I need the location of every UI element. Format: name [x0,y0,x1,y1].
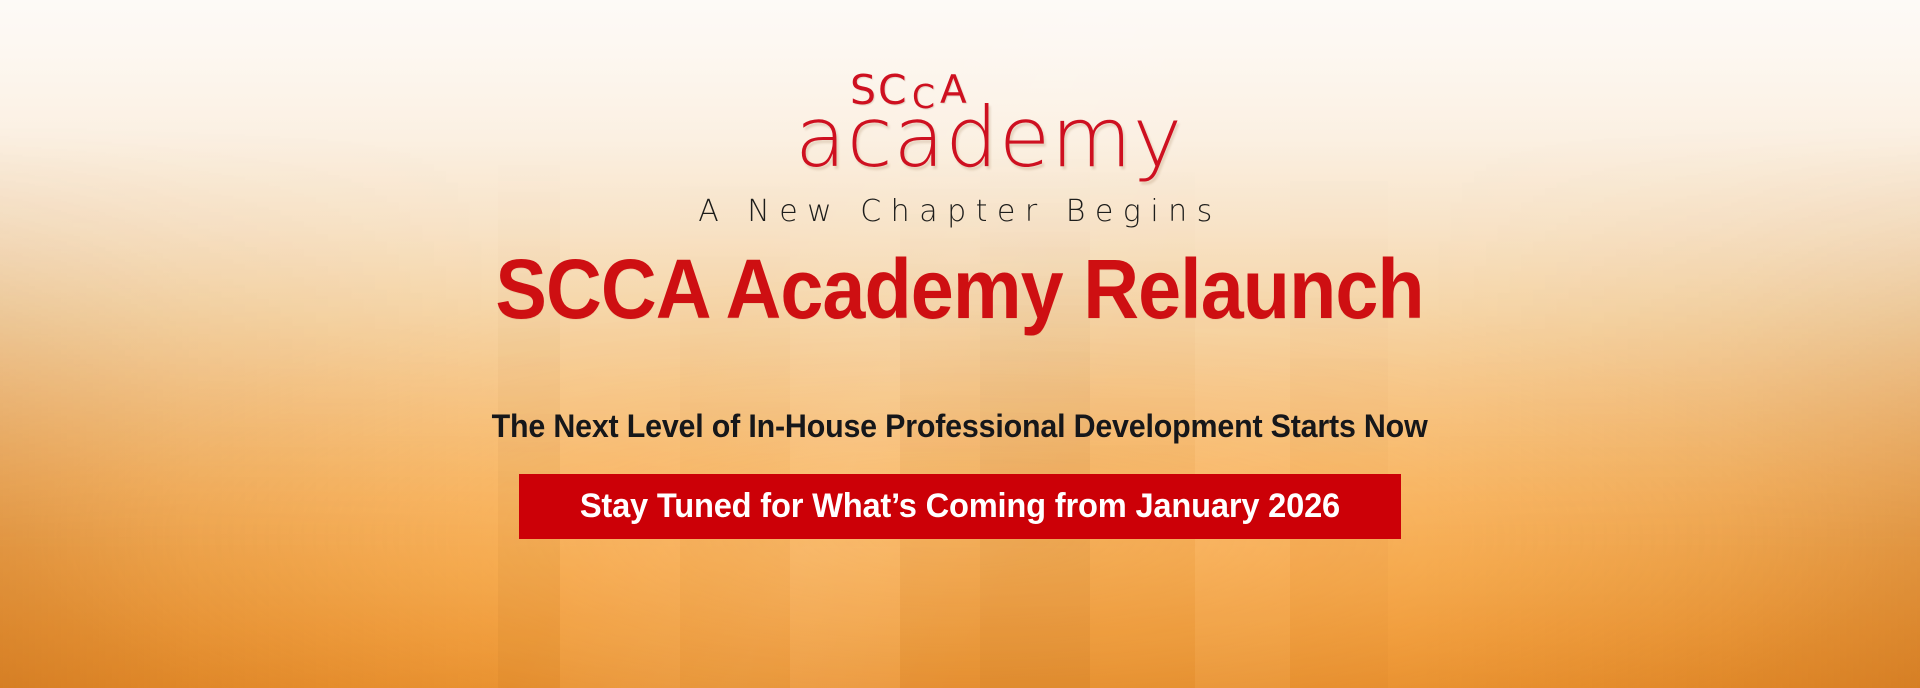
cta-banner-text: Stay Tuned for What’s Coming from Januar… [580,487,1340,526]
scca-academy-logo: S C C A academy [700,66,1220,176]
banner-kicker: A New Chapter Begins [698,194,1222,229]
promo-banner: S C C A academy A New Chapter Begins SCC… [0,0,1920,688]
banner-subheadline: The Next Level of In-House Professional … [492,409,1428,444]
cta-banner-band: Stay Tuned for What’s Coming from Januar… [519,474,1401,539]
banner-headline: SCCA Academy Relaunch [496,247,1424,333]
banner-content: S C C A academy A New Chapter Begins SCC… [0,0,1920,688]
logo-wordmark: academy [700,96,1220,179]
